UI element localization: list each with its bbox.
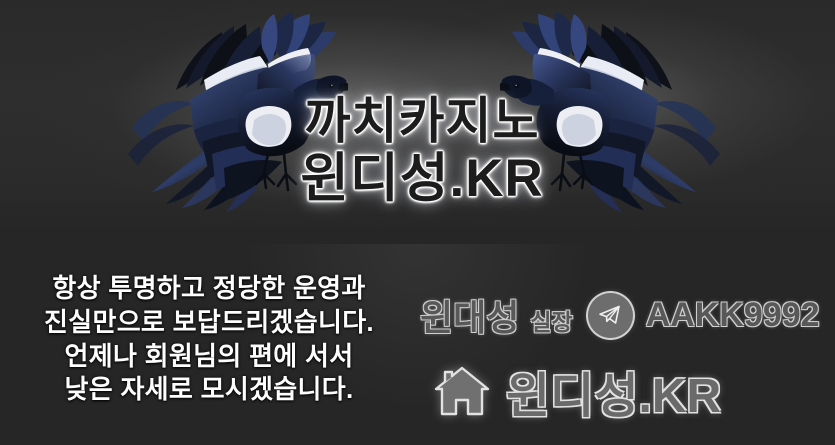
- slogan-line: 언제나 회원님의 편에 서서: [14, 340, 404, 374]
- slogan-line: 항상 투명하고 정당한 운영과: [14, 272, 404, 306]
- slogan-line: 낮은 자세로 모시겠습니다.: [14, 373, 404, 407]
- brand-title-line-2: 윈디성.KR: [272, 152, 572, 205]
- site-address[interactable]: 윈디성.KR: [506, 356, 721, 426]
- slogan-line: 진실만으로 보답드리겠습니다.: [14, 306, 404, 340]
- casino-promo-banner: 까치카지노 윈디성.KR 항상 투명하고 정당한 운영과 진실만으로 보답드리겠…: [0, 0, 835, 445]
- brand-title: 까치카지노 윈디성.KR: [272, 96, 572, 205]
- manager-name: 윈대성: [420, 289, 519, 341]
- brand-title-line-1: 까치카지노: [272, 96, 572, 146]
- domain-row[interactable]: 윈디성.KR: [432, 356, 832, 426]
- manager-role: 실장: [530, 303, 572, 337]
- home-icon: [432, 362, 492, 420]
- telegram-icon[interactable]: [588, 293, 633, 338]
- contact-row: 윈대성 실장 AAKK9992: [420, 288, 820, 342]
- slogan-block: 항상 투명하고 정당한 운영과 진실만으로 보답드리겠습니다. 언제나 회원님의…: [14, 272, 404, 407]
- telegram-handle[interactable]: AAKK9992: [646, 296, 820, 335]
